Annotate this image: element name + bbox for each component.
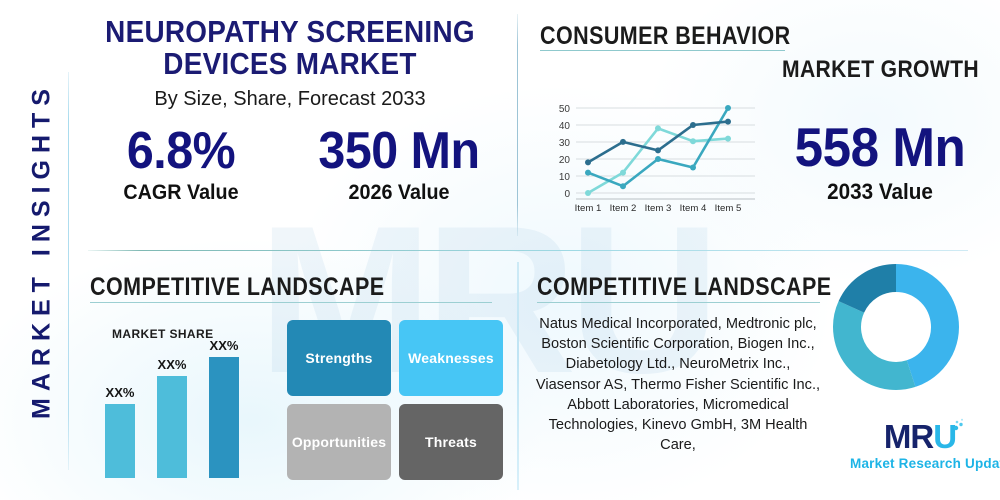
stat-base-year-value: 350 Mn bbox=[298, 124, 501, 178]
line-chart-svg: 50 40 30 20 10 0 bbox=[540, 100, 760, 220]
market-insights-rail-label: MARKET INSIGHTS bbox=[28, 41, 57, 461]
horizontal-divider bbox=[88, 250, 968, 251]
swot-cell-threats[interactable]: Threats bbox=[399, 404, 503, 480]
bar-column: XX% bbox=[105, 338, 135, 478]
page-title: NEUROPATHY SCREENING DEVICES MARKET bbox=[94, 16, 486, 80]
svg-text:10: 10 bbox=[559, 172, 571, 183]
bar-rect bbox=[105, 404, 135, 478]
swot-matrix: Strengths Weaknesses Opportunities Threa… bbox=[287, 320, 503, 480]
competitive-landscape-right-heading: COMPETITIVE LANDSCAPE bbox=[537, 273, 832, 302]
rail-divider bbox=[68, 72, 69, 470]
bar-data-label: XX% bbox=[158, 357, 187, 372]
market-growth-stat: 558 Mn 2033 Value bbox=[766, 118, 994, 205]
svg-text:Item 3: Item 3 bbox=[645, 203, 672, 214]
swot-label: Weaknesses bbox=[408, 350, 494, 366]
infographic-canvas: MRU MARKET INSIGHTS NEUROPATHY SCREENING… bbox=[0, 0, 1000, 500]
consumer-behavior-line-chart: 50 40 30 20 10 0 bbox=[540, 100, 760, 220]
mru-logo-tagline: Market Research Update bbox=[850, 456, 990, 471]
donut-segment-3 bbox=[851, 278, 896, 307]
market-growth-value: 558 Mn bbox=[774, 118, 986, 176]
competitive-landscape-right-heading-rule bbox=[537, 302, 820, 303]
svg-text:0: 0 bbox=[564, 189, 570, 200]
bar-rect bbox=[157, 376, 187, 478]
svg-text:20: 20 bbox=[559, 155, 571, 166]
svg-text:Item 5: Item 5 bbox=[715, 203, 742, 214]
logo-bubbles-icon bbox=[952, 418, 966, 432]
line-chart-series-2-markers bbox=[585, 105, 731, 189]
bar-column: XX% bbox=[157, 338, 187, 478]
line-chart-y-ticks: 50 40 30 20 10 0 bbox=[559, 104, 571, 200]
market-share-bar-chart: XX% XX% XX% bbox=[105, 338, 260, 478]
bar-rect bbox=[209, 357, 239, 478]
vertical-divider-top bbox=[517, 14, 518, 236]
consumer-behavior-heading-rule bbox=[540, 50, 785, 51]
svg-text:Item 1: Item 1 bbox=[575, 203, 602, 214]
swot-label: Strengths bbox=[305, 350, 372, 366]
swot-cell-strengths[interactable]: Strengths bbox=[287, 320, 391, 396]
bar-column: XX% bbox=[209, 338, 239, 478]
swot-cell-opportunities[interactable]: Opportunities bbox=[287, 404, 391, 480]
logo-letter-r: R bbox=[910, 418, 933, 455]
svg-text:30: 30 bbox=[559, 138, 571, 149]
market-growth-heading: MARKET GROWTH bbox=[782, 56, 979, 84]
donut-segment-1 bbox=[896, 278, 945, 374]
vertical-divider-bottom bbox=[517, 262, 519, 490]
stat-cagr-caption: CAGR Value bbox=[79, 181, 284, 205]
line-chart-x-ticks: Item 1 Item 2 Item 3 Item 4 Item 5 bbox=[575, 203, 742, 214]
donut-segment-2 bbox=[847, 307, 911, 376]
consumer-behavior-heading: CONSUMER BEHAVIOR bbox=[540, 22, 791, 51]
line-chart-series-2 bbox=[588, 108, 728, 186]
company-list: Natus Medical Incorporated, Medtronic pl… bbox=[533, 314, 823, 455]
donut-chart-svg bbox=[830, 261, 962, 393]
bar-data-label: XX% bbox=[106, 385, 135, 400]
svg-text:40: 40 bbox=[559, 121, 571, 132]
stat-base-year: 350 Mn 2026 Value bbox=[290, 124, 508, 205]
svg-text:Item 4: Item 4 bbox=[680, 203, 707, 214]
logo-letter-m: M bbox=[884, 418, 911, 455]
mru-logo-mark: MRU bbox=[850, 420, 990, 454]
swot-label: Threats bbox=[425, 434, 477, 450]
stat-cagr-value: 6.8% bbox=[80, 124, 283, 178]
mru-logo: MRU Market Research Update bbox=[850, 420, 990, 482]
stat-base-year-caption: 2026 Value bbox=[297, 181, 502, 205]
bar-data-label: XX% bbox=[210, 338, 239, 353]
svg-text:Item 2: Item 2 bbox=[610, 203, 637, 214]
competitive-landscape-left-heading: COMPETITIVE LANDSCAPE bbox=[90, 273, 385, 302]
swot-label: Opportunities bbox=[292, 434, 386, 450]
competitive-landscape-left-heading-rule bbox=[90, 302, 492, 303]
svg-text:50: 50 bbox=[559, 104, 571, 115]
stat-cagr: 6.8% CAGR Value bbox=[72, 124, 290, 205]
page-subtitle: By Size, Share, Forecast 2033 bbox=[72, 88, 508, 111]
market-segment-donut-chart bbox=[830, 261, 962, 393]
swot-cell-weaknesses[interactable]: Weaknesses bbox=[399, 320, 503, 396]
market-growth-caption: 2033 Value bbox=[773, 179, 987, 205]
